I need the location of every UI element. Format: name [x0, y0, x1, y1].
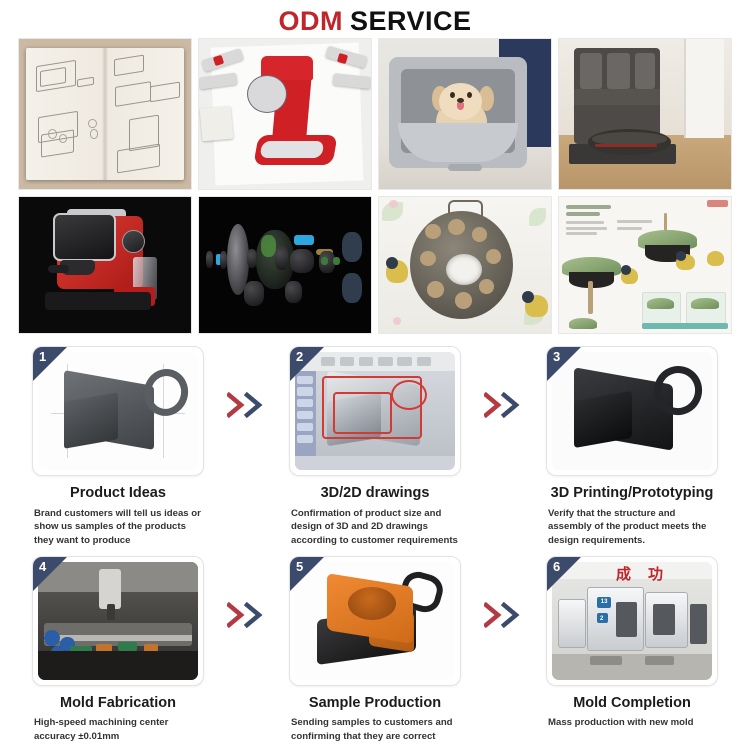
- page-title: ODMSERVICE: [278, 6, 471, 37]
- gallery-image-marker-sketch: [198, 38, 372, 190]
- gallery-image-sketchbook: [18, 38, 192, 190]
- step-6-image: 6 成 功 13 2: [546, 556, 718, 686]
- step-1-title: Product Ideas: [70, 485, 166, 502]
- odm-service-infographic: ODMSERVICE: [0, 0, 750, 750]
- gallery-image-robot-vacuum: [558, 38, 732, 190]
- page-title-accent: ODM: [278, 6, 343, 36]
- gallery-image-pet-dryer: [378, 38, 552, 190]
- process-arrow-2: [481, 346, 527, 418]
- process-step-4: 4: [18, 556, 218, 744]
- step-1-image: 1: [32, 346, 204, 476]
- double-chevron-right-icon: [484, 392, 524, 418]
- gallery-image-bird-feeder: [378, 196, 552, 334]
- process-arrow-1: [224, 346, 270, 418]
- step-2-number: 2: [296, 349, 303, 364]
- process-arrow-4: [481, 556, 527, 628]
- process-step-3: 3 3D Printing/Prototyping Verify that th…: [532, 346, 732, 548]
- step-4-image: 4: [32, 556, 204, 686]
- step-5-image: 5: [289, 556, 461, 686]
- step-5-description: Sending samples to customers and confirm…: [291, 716, 459, 743]
- step-2-image: 2: [289, 346, 461, 476]
- process-step-6: 6 成 功 13 2: [532, 556, 732, 730]
- process-step-5: 5 Sample Production Sending samples to c…: [275, 556, 475, 744]
- process-step-2: 2: [275, 346, 475, 548]
- gallery-image-catalog-page: [558, 196, 732, 334]
- step-5-title: Sample Production: [309, 695, 441, 712]
- step-3-title: 3D Printing/Prototyping: [551, 485, 714, 502]
- step-2-title: 3D/2D drawings: [321, 485, 430, 502]
- step-6-title: Mold Completion: [573, 695, 691, 712]
- double-chevron-right-icon: [484, 602, 524, 628]
- step-6-description: Mass production with new mold: [548, 716, 716, 730]
- page-title-rest: SERVICE: [350, 6, 472, 36]
- step-6-number: 6: [553, 559, 560, 574]
- step-3-description: Verify that the structure and assembly o…: [548, 507, 716, 548]
- step-5-number: 5: [296, 559, 303, 574]
- step-3-number: 3: [553, 349, 560, 364]
- step-1-description: Brand customers will tell us ideas or sh…: [34, 507, 202, 548]
- process-arrow-3: [224, 556, 270, 628]
- process-step-1: 1 Product Ideas Brand customers will tel…: [18, 346, 218, 548]
- step-4-description: High-speed machining center accuracy ±0.…: [34, 716, 202, 743]
- step-2-description: Confirmation of product size and design …: [291, 507, 459, 548]
- process-row-1: 1 Product Ideas Brand customers will tel…: [18, 346, 732, 548]
- step-4-title: Mold Fabrication: [60, 695, 176, 712]
- double-chevron-right-icon: [227, 602, 267, 628]
- step-1-number: 1: [39, 349, 46, 364]
- gallery-image-espresso-render: [18, 196, 192, 334]
- process-flow: 1 Product Ideas Brand customers will tel…: [0, 334, 750, 743]
- page-header: ODMSERVICE: [0, 0, 750, 38]
- step-4-number: 4: [39, 559, 46, 574]
- double-chevron-right-icon: [227, 392, 267, 418]
- gallery-image-exploded-view: [198, 196, 372, 334]
- gallery-grid: [0, 38, 750, 334]
- step-3-image: 3: [546, 346, 718, 476]
- process-row-2: 4: [18, 556, 732, 744]
